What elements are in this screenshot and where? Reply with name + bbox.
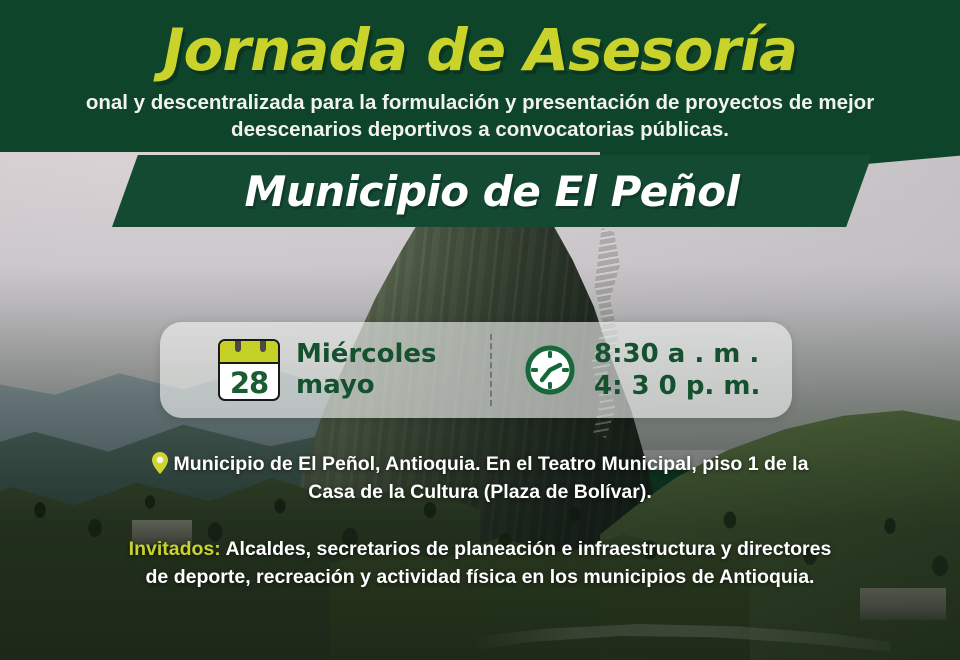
venue-line-1: Municipio de El Peñol, Antioquia. En el …	[174, 453, 809, 475]
calendar-day-number: 28	[220, 364, 278, 401]
map-pin-icon	[152, 452, 168, 474]
time-text: 8:30 a . m . 4: 3 0 p. m.	[594, 338, 760, 402]
time-end: 4: 3 0 p. m.	[594, 370, 760, 402]
municipality-name: Municipio de El Peñol	[112, 155, 872, 227]
month-label: mayo	[296, 370, 437, 401]
calendar-icon: 28	[218, 339, 280, 401]
date-section: 28 Miércoles mayo	[160, 339, 490, 401]
time-start: 8:30 a . m .	[594, 338, 760, 370]
page-title: Jornada de Asesoría	[0, 16, 960, 84]
calendar-ring-right	[260, 339, 266, 352]
clock-icon	[524, 344, 576, 396]
card-divider	[490, 334, 492, 406]
venue-address: Municipio de El Peñol, Antioquia. En el …	[60, 450, 900, 506]
venue-line-2: Casa de la Cultura (Plaza de Bolívar).	[60, 478, 900, 506]
event-poster: Jornada de Asesoría onal y descentraliza…	[0, 0, 960, 660]
calendar-ring-left	[235, 339, 241, 352]
calendar-header-strip	[220, 341, 278, 364]
page-subtitle: onal y descentralizada para la formulaci…	[0, 89, 960, 143]
subtitle-line-2: deescenarios deportivos a convocatorias …	[0, 116, 960, 143]
subtitle-line-1: onal y descentralizada para la formulaci…	[86, 91, 874, 114]
time-section: 8:30 a . m . 4: 3 0 p. m.	[506, 338, 760, 402]
invitees-line-1: Alcaldes, secretarios de planeación e in…	[221, 538, 832, 560]
invitees-label: Invitados:	[129, 538, 221, 560]
weekday-label: Miércoles	[296, 339, 437, 370]
date-text: Miércoles mayo	[296, 339, 437, 401]
invitees-note: Invitados: Alcaldes, secretarios de plan…	[60, 535, 900, 591]
invitees-line-2: de deporte, recreación y actividad físic…	[60, 563, 900, 591]
event-details-card: 28 Miércoles mayo 8:30 a . m . 4: 3 0 p.…	[160, 322, 792, 418]
venue-line-1-wrap: Municipio de El Peñol, Antioquia. En el …	[60, 450, 900, 478]
invitees-line-1-wrap: Invitados: Alcaldes, secretarios de plan…	[60, 535, 900, 563]
